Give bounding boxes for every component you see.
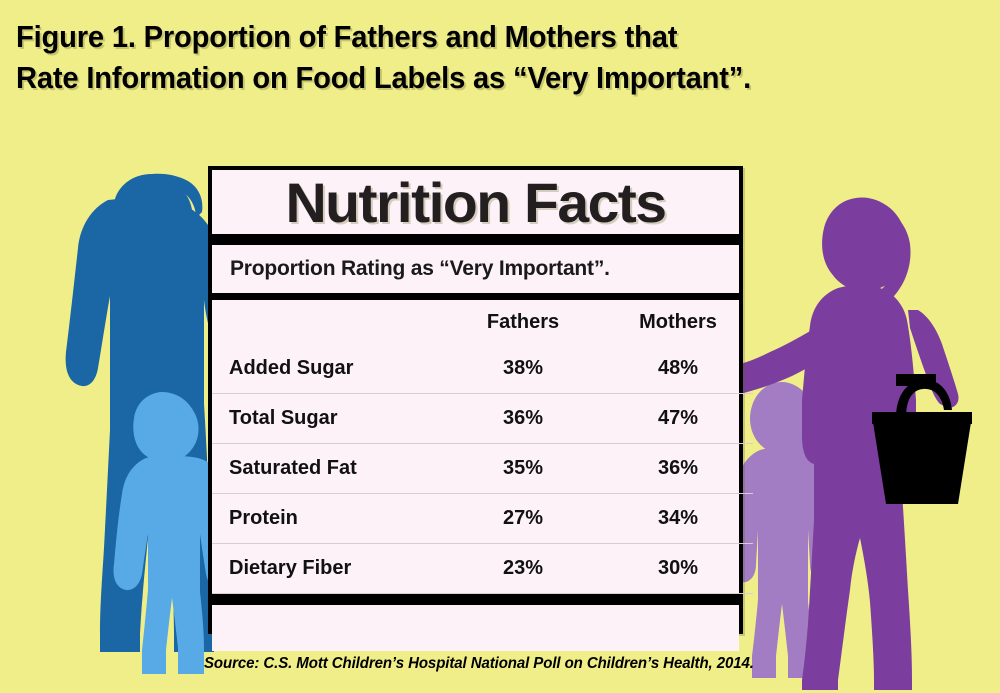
column-header-blank	[212, 300, 443, 344]
row-label: Dietary Fiber	[212, 544, 443, 594]
table-body: Added Sugar 38% 48% Total Sugar 36% 47% …	[212, 344, 753, 594]
row-label: Added Sugar	[212, 344, 443, 394]
row-value-fathers: 23%	[443, 544, 603, 594]
panel-rule-medium	[212, 293, 739, 300]
row-value-fathers: 35%	[443, 444, 603, 494]
row-value-mothers: 47%	[603, 394, 753, 444]
table-row: Added Sugar 38% 48%	[212, 344, 753, 394]
column-header-fathers: Fathers	[443, 300, 603, 344]
row-label: Saturated Fat	[212, 444, 443, 494]
panel-rule-thick-top	[212, 234, 739, 245]
page-title: Figure 1. Proportion of Fathers and Moth…	[16, 16, 933, 98]
shopping-basket-icon	[872, 374, 972, 504]
table-header-row: Fathers Mothers	[212, 300, 753, 344]
panel-footer-band	[212, 605, 739, 651]
panel-subtitle: Proportion Rating as “Very Important”.	[212, 245, 739, 293]
row-value-fathers: 27%	[443, 494, 603, 544]
row-value-mothers: 36%	[603, 444, 753, 494]
nutrition-facts-heading: Nutrition Facts	[207, 170, 745, 234]
row-value-mothers: 34%	[603, 494, 753, 544]
table-row: Protein 27% 34%	[212, 494, 753, 544]
row-label: Total Sugar	[212, 394, 443, 444]
row-value-fathers: 36%	[443, 394, 603, 444]
results-table: Fathers Mothers Added Sugar 38% 48% Tota…	[212, 300, 753, 594]
table-row: Dietary Fiber 23% 30%	[212, 544, 753, 594]
column-header-mothers: Mothers	[603, 300, 753, 344]
row-value-fathers: 38%	[443, 344, 603, 394]
row-label: Protein	[212, 494, 443, 544]
source-note: Source: C.S. Mott Children’s Hospital Na…	[204, 655, 754, 673]
table-head: Fathers Mothers	[212, 300, 753, 344]
nutrition-facts-panel: Nutrition Facts Proportion Rating as “Ve…	[208, 166, 743, 634]
figure-canvas: Figure 1. Proportion of Fathers and Moth…	[0, 0, 1000, 693]
panel-rule-thick-bottom	[212, 594, 739, 605]
row-value-mothers: 48%	[603, 344, 753, 394]
row-value-mothers: 30%	[603, 544, 753, 594]
table-row: Total Sugar 36% 47%	[212, 394, 753, 444]
table-row: Saturated Fat 35% 36%	[212, 444, 753, 494]
